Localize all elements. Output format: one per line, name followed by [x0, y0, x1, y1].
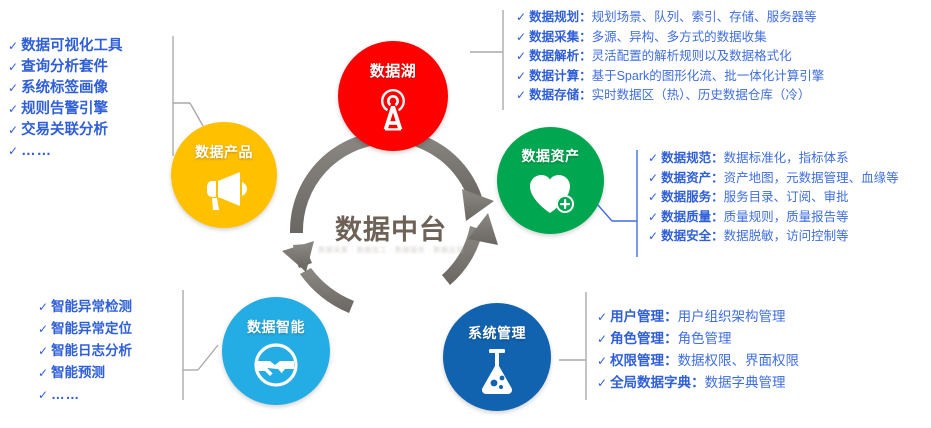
list-item-key: 数据存储: [529, 86, 579, 106]
page-title: 数据中台: [316, 208, 466, 247]
list-item: ✓数据存储：实时数据区（热）、历史数据仓库（冷）: [516, 86, 824, 106]
list-item-key: 规则告警引擎: [21, 99, 108, 120]
node-label-data-intelligence: 数据智能: [247, 317, 305, 337]
list-item-separator: ：: [579, 86, 592, 106]
list-data-lake: ✓数据规划：规划场景、队列、索引、存储、服务器等✓数据采集：多源、异构、多方式的…: [516, 8, 824, 106]
check-icon: ✓: [597, 372, 607, 394]
list-data-product: ✓数据可视化工具✓查询分析套件✓系统标签画像✓规则告警引擎✓交易关联分析✓……: [8, 36, 123, 162]
list-item-value: 质量规则，质量报告等: [724, 208, 849, 228]
list-item-key: 智能异常定位: [51, 318, 132, 339]
node-data-intelligence[interactable]: 数据智能: [222, 297, 330, 405]
node-label-data-lake: 数据湖: [370, 60, 417, 81]
list-item-key: 数据规范: [661, 149, 711, 169]
check-icon: ✓: [648, 227, 658, 247]
list-item-value: 数据标准化，指标体系: [724, 149, 849, 169]
broadcast-tower-icon: [367, 84, 419, 136]
heart-plus-icon: [524, 168, 578, 216]
list-item: ✓角色管理：角色管理: [597, 328, 799, 350]
handshake-icon: [249, 340, 303, 390]
list-item: ✓数据规划：规划场景、队列、索引、存储、服务器等: [516, 8, 824, 28]
list-item: ✓查询分析套件: [8, 57, 123, 78]
list-item-key: 查询分析套件: [21, 57, 108, 78]
list-item-separator: ：: [579, 8, 592, 28]
check-icon: ✓: [597, 350, 607, 372]
list-item: ✓规则告警引擎: [8, 99, 123, 120]
list-item: ✓数据服务：服务目录、订阅、审批: [648, 188, 899, 208]
check-icon: ✓: [38, 319, 48, 340]
list-item: ✓数据采集：多源、异构、多方式的数据收集: [516, 28, 824, 48]
list-item-value: 实时数据区（热）、历史数据仓库（冷）: [592, 86, 811, 106]
check-icon: ✓: [8, 36, 18, 57]
list-data-intelligence: ✓智能异常检测✓智能异常定位✓智能日志分析✓智能预测✓……: [38, 296, 132, 406]
check-icon: ✓: [38, 385, 48, 406]
node-system-management[interactable]: 系统管理: [443, 303, 551, 411]
check-icon: ✓: [38, 297, 48, 318]
list-item-value: 多源、异构、多方式的数据收集: [592, 28, 767, 48]
list-item-value: 数据脱敏，访问控制等: [724, 227, 849, 247]
list-item-value: 数据权限、界面权限: [678, 350, 800, 372]
list-item: ✓智能日志分析: [38, 340, 132, 362]
list-item-separator: ：: [579, 28, 592, 48]
check-icon: ✓: [648, 169, 658, 189]
list-item-separator: ：: [711, 169, 724, 189]
list-item-key: 数据安全: [661, 227, 711, 247]
check-icon: ✓: [516, 86, 526, 106]
check-icon: ✓: [8, 78, 18, 99]
list-item-key: ……: [21, 141, 52, 162]
check-icon: ✓: [648, 208, 658, 228]
check-icon: ✓: [516, 8, 526, 28]
list-item-key: 角色管理: [610, 328, 664, 350]
node-data-lake[interactable]: 数据湖: [338, 41, 448, 151]
check-icon: ✓: [516, 28, 526, 48]
list-item: ✓交易关联分析: [8, 120, 123, 141]
list-item-key: 数据资产: [661, 169, 711, 189]
list-item-key: 数据服务: [661, 188, 711, 208]
list-item-key: 数据计算: [529, 67, 579, 87]
list-item-separator: ：: [664, 328, 678, 350]
list-item-value: 用户组织架构管理: [678, 306, 786, 328]
check-icon: ✓: [516, 67, 526, 87]
check-icon: ✓: [648, 149, 658, 169]
node-label-data-asset: 数据资产: [522, 146, 580, 166]
node-label-system-management: 系统管理: [468, 323, 526, 343]
list-item-key: 用户管理: [610, 306, 664, 328]
diagram-canvas: 数据湖 数据产品 数据资产: [0, 0, 931, 428]
list-item-separator: ：: [579, 67, 592, 87]
check-icon: ✓: [38, 341, 48, 362]
check-icon: ✓: [648, 188, 658, 208]
list-item: ✓智能预测: [38, 362, 132, 384]
list-item-value: 服务目录、订阅、审批: [724, 188, 849, 208]
list-item-separator: ：: [711, 188, 724, 208]
check-icon: ✓: [8, 141, 18, 162]
list-item-value: 资产地图，元数据管理、血缘等: [724, 169, 899, 189]
list-item: ✓智能异常定位: [38, 318, 132, 340]
list-item-separator: ：: [691, 372, 705, 394]
list-item-key: 数据规划: [529, 8, 579, 28]
list-item-key: 数据解析: [529, 47, 579, 67]
list-item-key: 智能日志分析: [51, 340, 132, 361]
list-item: ✓数据计算：基于Spark的图形化流、批一体化计算引擎: [516, 67, 824, 87]
list-item-key: ……: [51, 384, 80, 405]
list-item-key: 数据采集: [529, 28, 579, 48]
list-item-separator: ：: [664, 306, 678, 328]
check-icon: ✓: [8, 99, 18, 120]
node-data-product[interactable]: 数据产品: [171, 122, 277, 228]
list-item: ✓数据安全：数据脱敏，访问控制等: [648, 227, 899, 247]
list-item: ✓……: [8, 141, 123, 162]
list-item-value: 角色管理: [678, 328, 732, 350]
list-item-key: 权限管理: [610, 350, 664, 372]
node-label-data-product: 数据产品: [195, 142, 253, 162]
list-item-value: 规划场景、队列、索引、存储、服务器等: [592, 8, 817, 28]
flask-icon: [474, 345, 520, 397]
check-icon: ✓: [38, 363, 48, 384]
check-icon: ✓: [597, 328, 607, 350]
node-data-asset[interactable]: 数据资产: [497, 127, 604, 234]
check-icon: ✓: [8, 57, 18, 78]
list-system-management: ✓用户管理：用户组织架构管理✓角色管理：角色管理✓权限管理：数据权限、界面权限✓…: [597, 306, 799, 394]
check-icon: ✓: [8, 120, 18, 141]
list-item-key: 交易关联分析: [21, 120, 108, 141]
list-item-separator: ：: [711, 208, 724, 228]
megaphone-icon: [199, 166, 249, 214]
list-item: ✓数据资产：资产地图，元数据管理、血缘等: [648, 169, 899, 189]
list-item-key: 智能预测: [51, 362, 105, 383]
list-item: ✓权限管理：数据权限、界面权限: [597, 350, 799, 372]
list-item: ✓全局数据字典：数据字典管理: [597, 372, 799, 394]
list-item: ✓系统标签画像: [8, 78, 123, 99]
list-item: ✓数据可视化工具: [8, 36, 123, 57]
list-item: ✓用户管理：用户组织架构管理: [597, 306, 799, 328]
list-item-key: 数据质量: [661, 208, 711, 228]
page-subtitle: 数据采集 · 数据加工 · 数据服务 · 数据运营: [316, 245, 466, 255]
list-item-value: 灵活配置的解析规则以及数据格式化: [592, 47, 792, 67]
list-item-value: 数据字典管理: [705, 372, 786, 394]
list-data-asset: ✓数据规范：数据标准化，指标体系✓数据资产：资产地图，元数据管理、血缘等✓数据服…: [648, 149, 899, 247]
list-item: ✓……: [38, 384, 132, 406]
list-item-separator: ：: [711, 149, 724, 169]
list-item: ✓智能异常检测: [38, 296, 132, 318]
list-item-key: 数据可视化工具: [21, 36, 123, 57]
list-item-key: 全局数据字典: [610, 372, 691, 394]
list-item-separator: ：: [711, 227, 724, 247]
check-icon: ✓: [516, 47, 526, 67]
list-item: ✓数据质量：质量规则，质量报告等: [648, 208, 899, 228]
list-item: ✓数据规范：数据标准化，指标体系: [648, 149, 899, 169]
list-item-value: 基于Spark的图形化流、批一体化计算引擎: [592, 67, 825, 87]
list-item-key: 系统标签画像: [21, 78, 108, 99]
list-item-separator: ：: [579, 47, 592, 67]
list-item-key: 智能异常检测: [51, 296, 132, 317]
list-item-separator: ：: [664, 350, 678, 372]
check-icon: ✓: [597, 306, 607, 328]
list-item: ✓数据解析：灵活配置的解析规则以及数据格式化: [516, 47, 824, 67]
